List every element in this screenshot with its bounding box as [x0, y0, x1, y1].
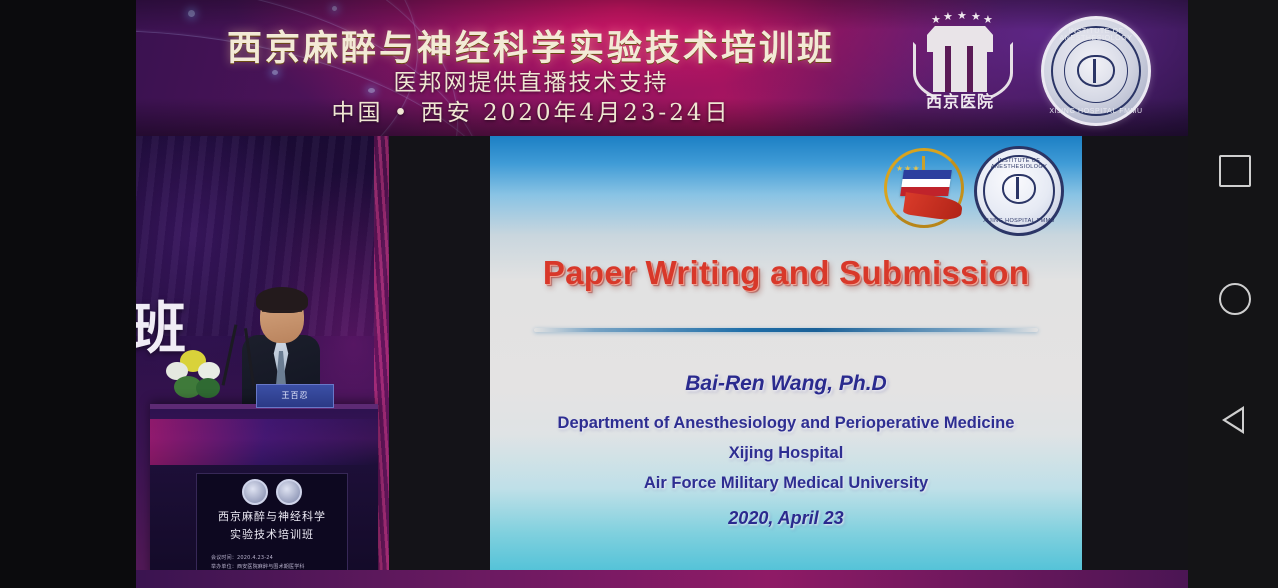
- slide-seal-bottom-text: XIJING HOSPITAL FMMU: [977, 218, 1061, 224]
- slide-divider: [534, 328, 1038, 332]
- institute-anesthesiology-seal-icon: INSTITUTE OF ANESTHESIOLOGY XIJING HOSPI…: [1041, 16, 1151, 126]
- recents-square-icon[interactable]: [1219, 155, 1251, 187]
- seal-bottom-text: XIJING HOSPITAL FMMU: [1044, 108, 1148, 115]
- flower-arrangement: [164, 348, 226, 404]
- back-triangle-icon[interactable]: [1222, 406, 1244, 434]
- stage-bottom-strip: [136, 570, 1188, 588]
- xijing-hospital-shield-icon: ★ ★ ★ ★ ★ 西京医院: [911, 12, 1009, 104]
- shield-logo-label: 西京医院: [911, 88, 1009, 112]
- podium: 西京麻醉与神经科学 实验技术培训班 会议时间：2020.4.23-24 举办单位…: [150, 404, 378, 588]
- stage-gap-right: [1082, 136, 1188, 588]
- speaker-video-feed[interactable]: 班: [136, 136, 389, 588]
- slide-hospital: Xijing Hospital: [490, 444, 1082, 463]
- home-circle-icon[interactable]: [1219, 283, 1251, 315]
- stage-gap-left: [389, 136, 490, 588]
- slide-logos: ★★★ INSTITUTE OF ANESTHESIOLOGY XIJING H…: [882, 140, 1064, 236]
- slide-speaker-name: Bai-Ren Wang, Ph.D: [490, 372, 1082, 396]
- conference-banner: 西京麻醉与神经科学实验技术培训班 医邦网提供直播技术支持 中国 • 西安 202…: [136, 0, 1188, 136]
- banner-subtitle-support: 医邦网提供直播技术支持: [166, 63, 896, 97]
- slide-seal-top-text: INSTITUTE OF ANESTHESIOLOGY: [977, 158, 1061, 170]
- presentation-slide[interactable]: ★★★ INSTITUTE OF ANESTHESIOLOGY XIJING H…: [490, 136, 1082, 588]
- speaker-nameplate: 王百忍: [256, 384, 334, 408]
- seal-top-text: INSTITUTE OF ANESTHESIOLOGY: [1044, 28, 1148, 42]
- android-nav-bar[interactable]: [1188, 0, 1278, 588]
- screen: 西京麻醉与神经科学实验技术培训班 医邦网提供直播技术支持 中国 • 西安 202…: [0, 0, 1278, 588]
- banner-subtitle-location: 中国 • 西安 2020年4月23-24日: [166, 93, 896, 127]
- podium-sign-line1: 西京麻醉与神经科学: [197, 508, 347, 524]
- slide-date: 2020, April 23: [490, 508, 1082, 529]
- podium-sign: 西京麻醉与神经科学 实验技术培训班 会议时间：2020.4.23-24 举办单位…: [196, 473, 348, 583]
- podium-sign-small1: 会议时间：2020.4.23-24: [211, 554, 333, 561]
- institute-anesthesiology-seal-icon-slide: INSTITUTE OF ANESTHESIOLOGY XIJING HOSPI…: [974, 146, 1064, 236]
- podium-sign-line2: 实验技术培训班: [197, 526, 347, 542]
- slide-department: Department of Anesthesiology and Periope…: [490, 414, 1082, 433]
- video-stage[interactable]: 西京麻醉与神经科学实验技术培训班 医邦网提供直播技术支持 中国 • 西安 202…: [136, 0, 1188, 588]
- military-medical-emblem-icon: ★★★: [882, 146, 966, 230]
- podium-shield-icon: [242, 479, 268, 505]
- nameplate-text: 王百忍: [257, 385, 333, 407]
- podium-seal-icon: [276, 479, 302, 505]
- podium-sign-small2: 举办单位：西安医院麻醉与围术期医学科: [211, 563, 333, 570]
- slide-title: Paper Writing and Submission: [490, 254, 1082, 292]
- letterbox-left: [0, 0, 136, 588]
- slide-university: Air Force Military Medical University: [490, 474, 1082, 493]
